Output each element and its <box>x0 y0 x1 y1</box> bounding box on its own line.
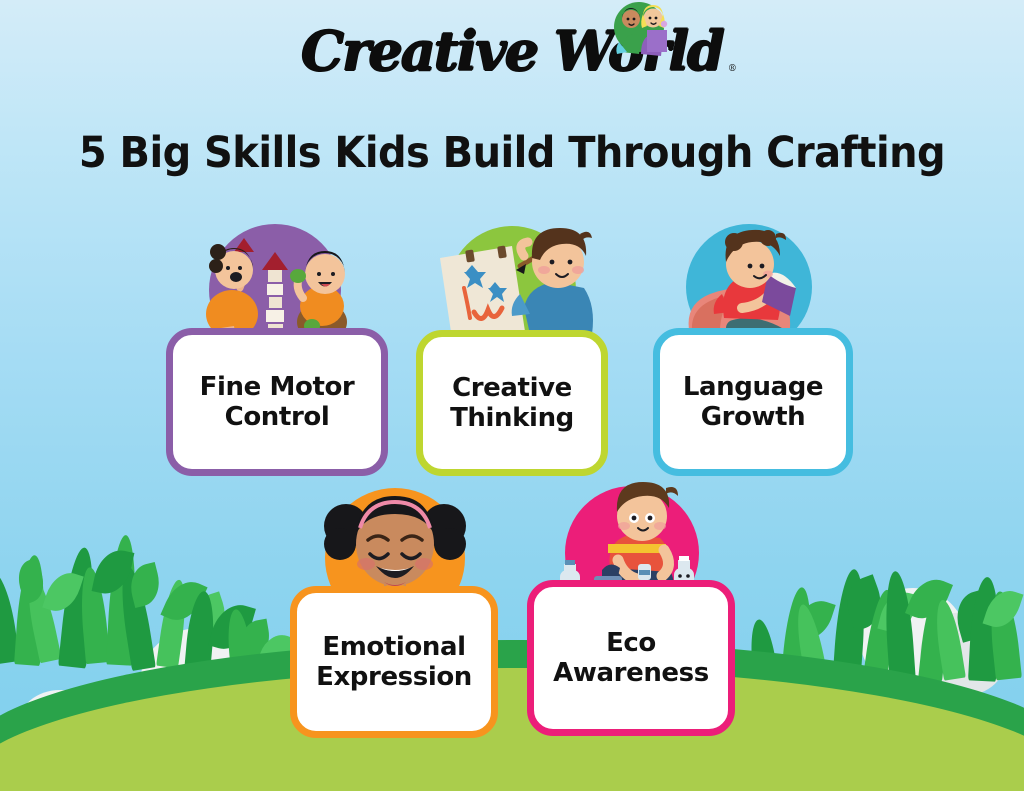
two-children-reading-icon <box>607 0 671 58</box>
card-creative-thinking[interactable]: Creative Thinking <box>416 330 608 476</box>
card-label-line1: Eco <box>606 628 656 658</box>
card-label-fine-motor-control: Fine Motor Control <box>194 372 361 432</box>
card-label-emotional-expression: Emotional Expression <box>310 632 478 692</box>
infographic-canvas: Creative World ® <box>0 0 1024 791</box>
card-label-eco-awareness: Eco Awareness <box>547 628 715 688</box>
card-fine-motor-control[interactable]: Fine Motor Control <box>166 328 388 476</box>
card-label-line1: Creative <box>452 373 572 403</box>
card-label-line1: Emotional <box>322 632 465 662</box>
card-label-line2: Growth <box>701 402 806 432</box>
card-eco-awareness[interactable]: Eco Awareness <box>527 580 735 736</box>
card-label-creative-thinking: Creative Thinking <box>444 373 580 433</box>
page-title: 5 Big Skills Kids Build Through Crafting <box>36 128 988 178</box>
card-emotional-expression[interactable]: Emotional Expression <box>290 586 498 738</box>
brand-logo: Creative World ® <box>0 24 1024 78</box>
card-label-line1: Language <box>683 372 823 402</box>
card-label-line1: Fine Motor <box>200 372 355 402</box>
card-label-line2: Control <box>225 402 330 432</box>
card-label-line2: Awareness <box>553 658 709 688</box>
card-language-growth[interactable]: Language Growth <box>653 328 853 476</box>
card-label-line2: Expression <box>316 662 472 692</box>
trademark-symbol: ® <box>728 65 735 74</box>
card-label-line2: Thinking <box>450 403 574 433</box>
card-label-language-growth: Language Growth <box>677 372 829 432</box>
brand-logo-text: Creative World ® <box>301 24 723 78</box>
